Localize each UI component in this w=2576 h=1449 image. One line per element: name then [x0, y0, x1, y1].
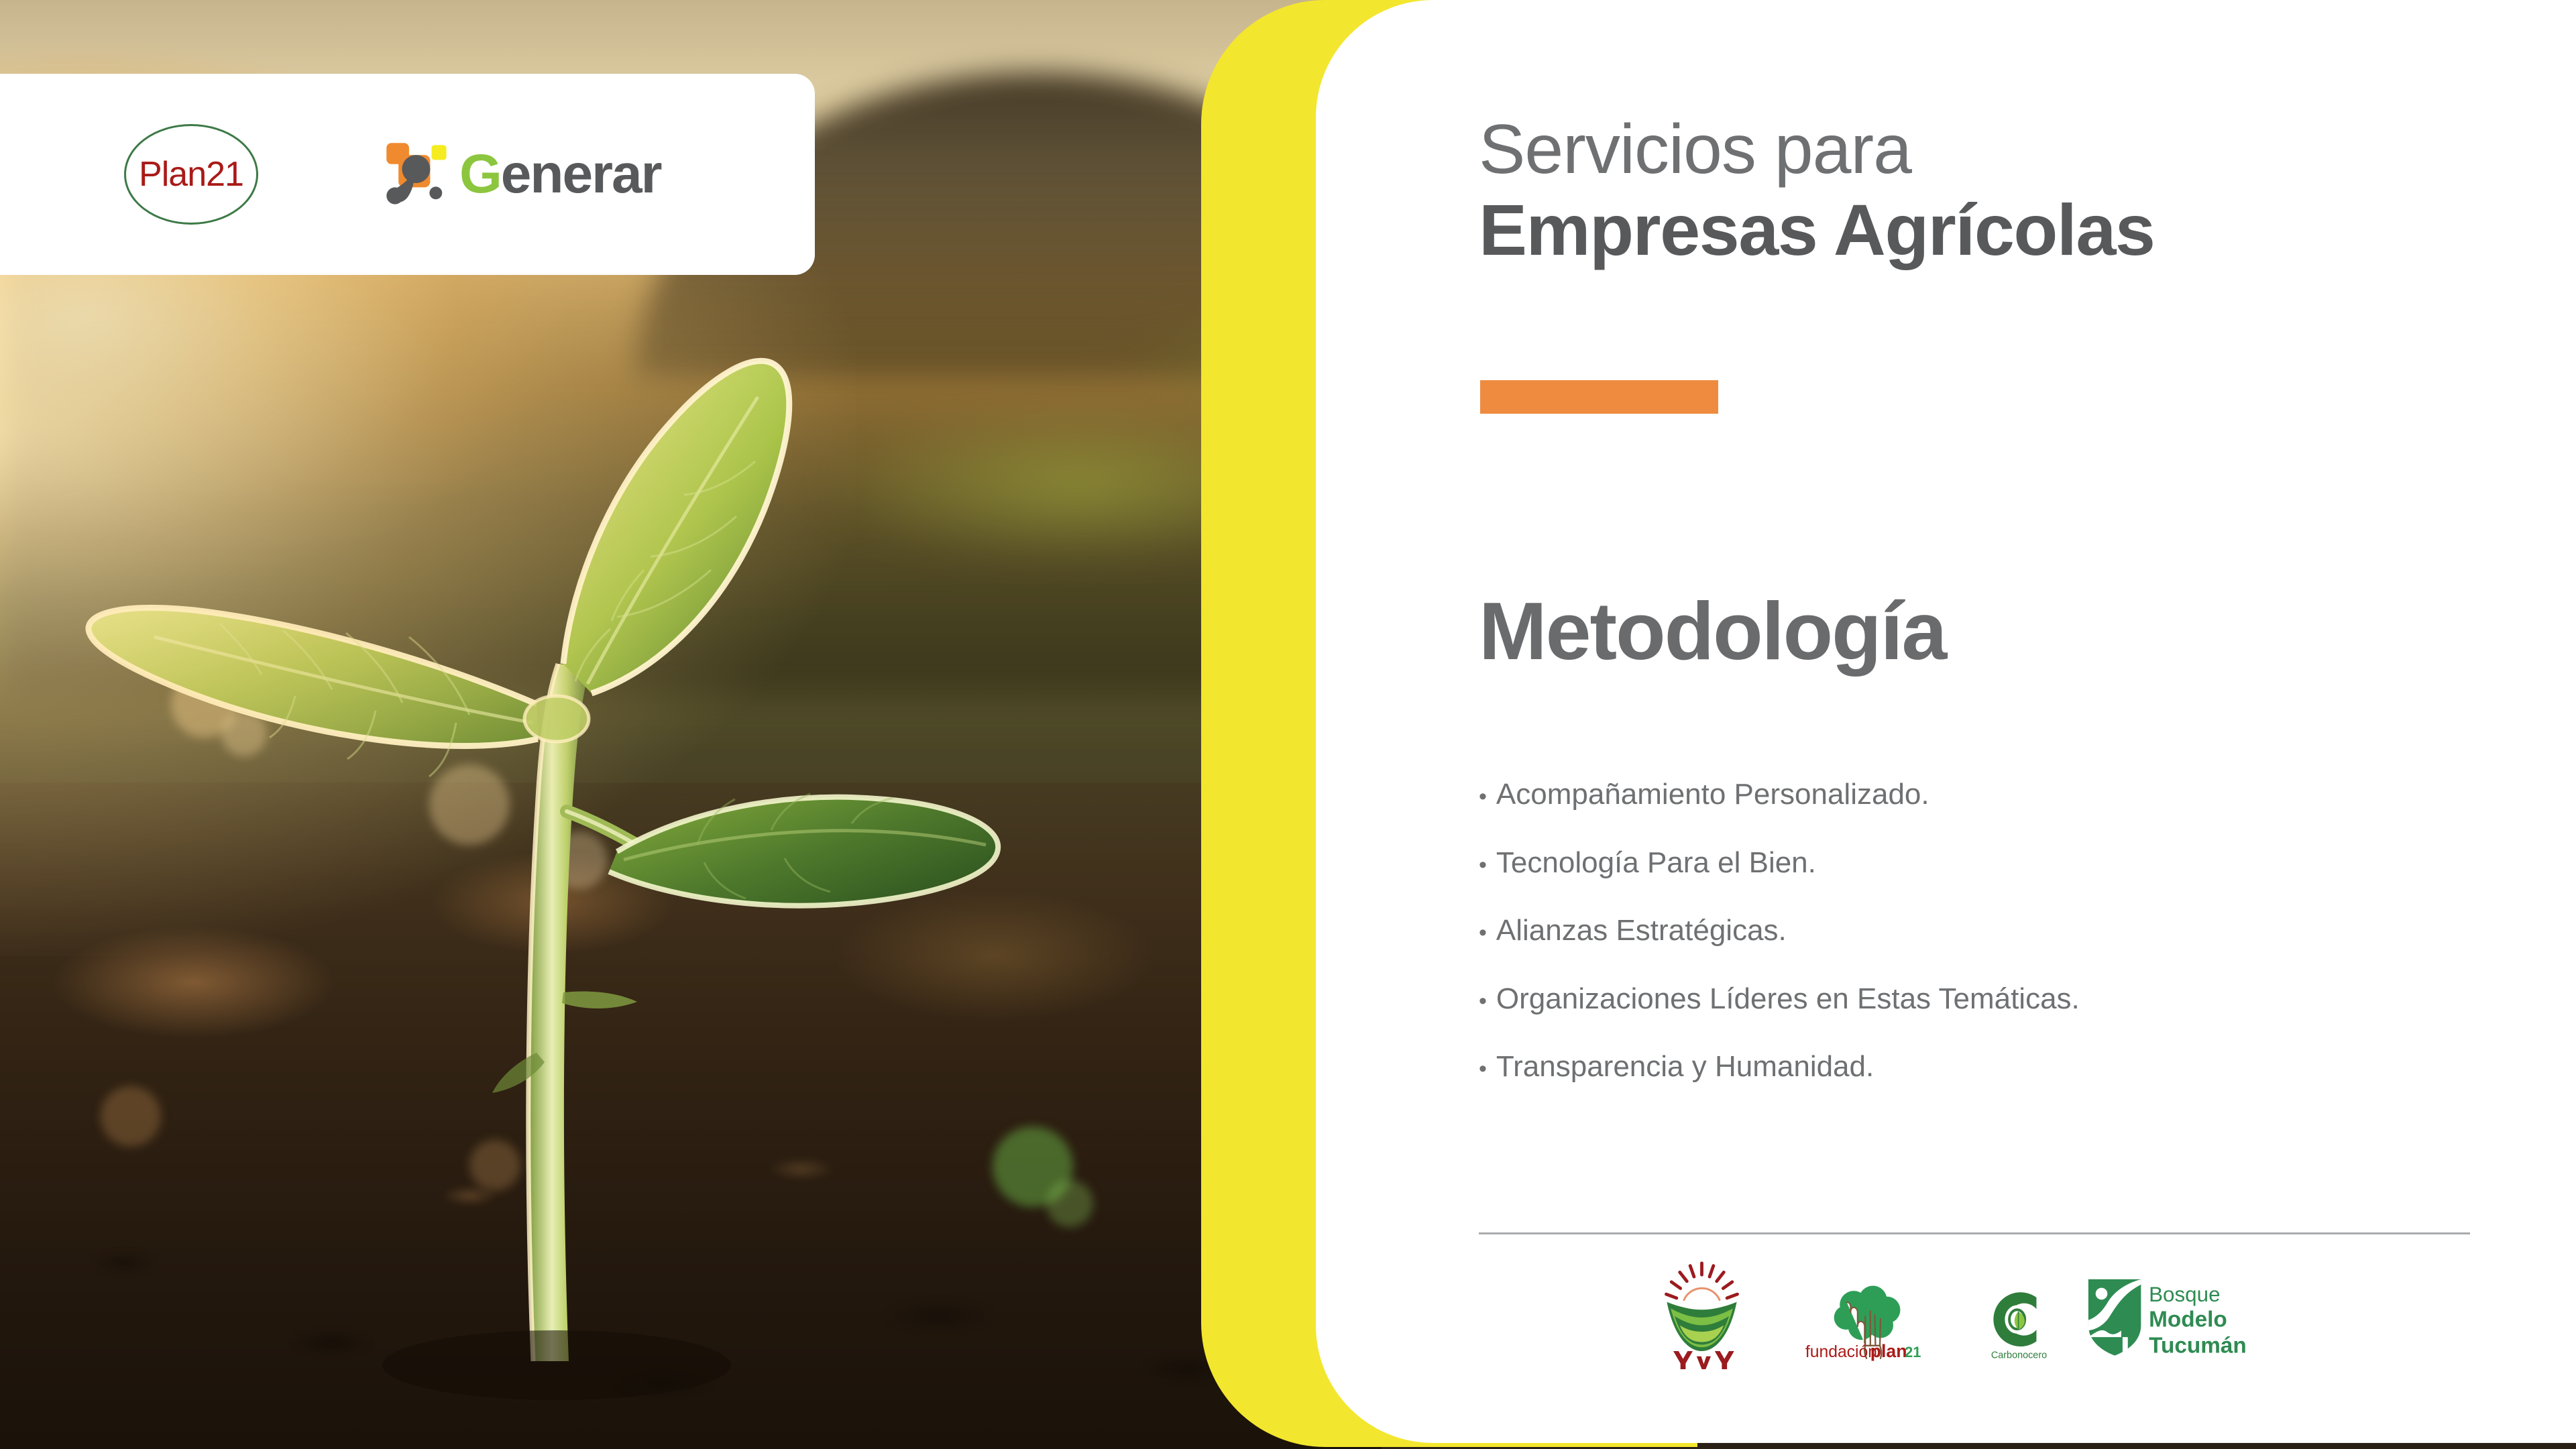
seedling-illustration [27, 221, 1127, 1401]
generar-word-rest: enerar [501, 143, 661, 205]
plan-text: plan [1870, 1341, 1907, 1361]
list-item: • Organizaciones Líderes en Estas Temáti… [1479, 982, 2471, 1017]
bullet-marker-icon: • [1479, 1057, 1487, 1080]
section-title: Metodología [1479, 590, 2471, 672]
yvy-agricultura-regenerativa-logo: AGRICULTURA REGENERATIVA [1657, 1261, 1747, 1369]
bullet-marker-icon: • [1479, 921, 1487, 944]
list-item: • Tecnología Para el Bien. [1479, 846, 2471, 880]
generar-wordmark: Generar [459, 147, 661, 202]
list-item-label: Tecnología Para el Bien. [1496, 846, 1816, 880]
list-item-label: Alianzas Estratégicas. [1496, 914, 1787, 948]
carbonocero-logo: Carbonocero [1977, 1281, 2061, 1365]
bosque-modelo-tucuman-logo: Bosque Modelo Tucumán [2084, 1274, 2255, 1360]
generar-blocks-icon [382, 139, 453, 210]
bosque-line2: Modelo [2149, 1307, 2227, 1332]
page-title: Servicios para Empresas Agrícolas [1479, 114, 2471, 268]
plan21-number: 21 [1905, 1344, 1921, 1360]
title-line-1: Servicios para [1479, 114, 2471, 185]
partner-logos: AGRICULTURA REGENERATIVA [1657, 1261, 2461, 1381]
list-item: • Acompañamiento Personalizado. [1479, 778, 2471, 812]
content-column: Servicios para Empresas Agrícolas Metodo… [1479, 0, 2471, 1449]
list-item-label: Transparencia y Humanidad. [1496, 1050, 1874, 1084]
orange-accent-bar [1480, 380, 1718, 414]
list-item: • Transparencia y Humanidad. [1479, 1050, 2471, 1084]
list-item-label: Organizaciones Líderes en Estas Temática… [1496, 982, 2080, 1017]
slide-root: Plan21 Generar Servicios para Empresas A… [0, 0, 2576, 1449]
carbonocero-label: Carbonocero [1991, 1350, 2047, 1360]
title-line-2: Empresas Agrícolas [1479, 192, 2471, 268]
bullet-marker-icon: • [1479, 854, 1487, 876]
bullet-marker-icon: • [1479, 785, 1487, 808]
list-item: • Alianzas Estratégicas. [1479, 914, 2471, 948]
footer-divider [1479, 1232, 2470, 1234]
generar-logo: Generar [382, 139, 661, 210]
list-item-label: Acompañamiento Personalizado. [1496, 778, 1929, 812]
logo-card: Plan21 Generar [0, 74, 815, 275]
plan21-wordmark: Plan21 [124, 124, 258, 225]
bosque-line1: Bosque [2149, 1283, 2220, 1306]
plan21-logo: Plan21 [124, 124, 258, 225]
bosque-line3: Tucumán [2149, 1334, 2247, 1358]
bullet-marker-icon: • [1479, 990, 1487, 1012]
fundacion-plan21-logo: fundación plan 21 [1804, 1279, 1931, 1363]
methodology-bullet-list: • Acompañamiento Personalizado. • Tecnol… [1479, 778, 2471, 1118]
fundacion-text: fundación [1805, 1343, 1877, 1361]
generar-word-accent: G [459, 143, 501, 205]
